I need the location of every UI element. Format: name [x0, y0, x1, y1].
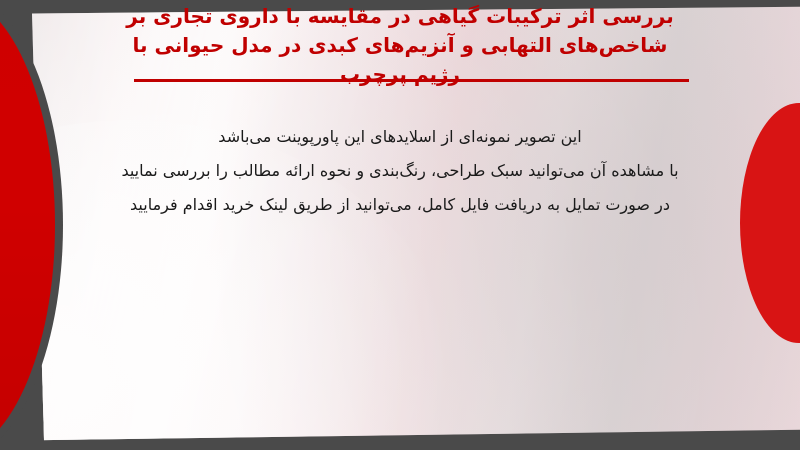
title-underline-rule	[134, 79, 689, 82]
slide-body-line-2: با مشاهده آن می‌توانید سبک طراحی، رنگ‌بن…	[60, 154, 740, 188]
slide-body-line-1: این تصویر نمونه‌ای از اسلایدهای این پاور…	[60, 120, 740, 154]
slide-body-text: این تصویر نمونه‌ای از اسلایدهای این پاور…	[60, 120, 740, 222]
slide-title-line-2: شاخص‌های التهابی و آنزیم‌های کبدی در مدل…	[108, 31, 692, 60]
slide-body-line-3: در صورت تمایل به دریافت فایل کامل، می‌تو…	[60, 188, 740, 222]
slide-content: بررسی اثر ترکیبات گیاهی در مقایسه با دار…	[0, 0, 800, 450]
slide-title-line-1: بررسی اثر ترکیبات گیاهی در مقایسه با دار…	[108, 2, 692, 31]
slide-title: بررسی اثر ترکیبات گیاهی در مقایسه با دار…	[108, 2, 692, 89]
presentation-slide: بررسی اثر ترکیبات گیاهی در مقایسه با دار…	[0, 0, 800, 450]
slide-title-line-3: رژیم پرچرب	[108, 60, 692, 89]
